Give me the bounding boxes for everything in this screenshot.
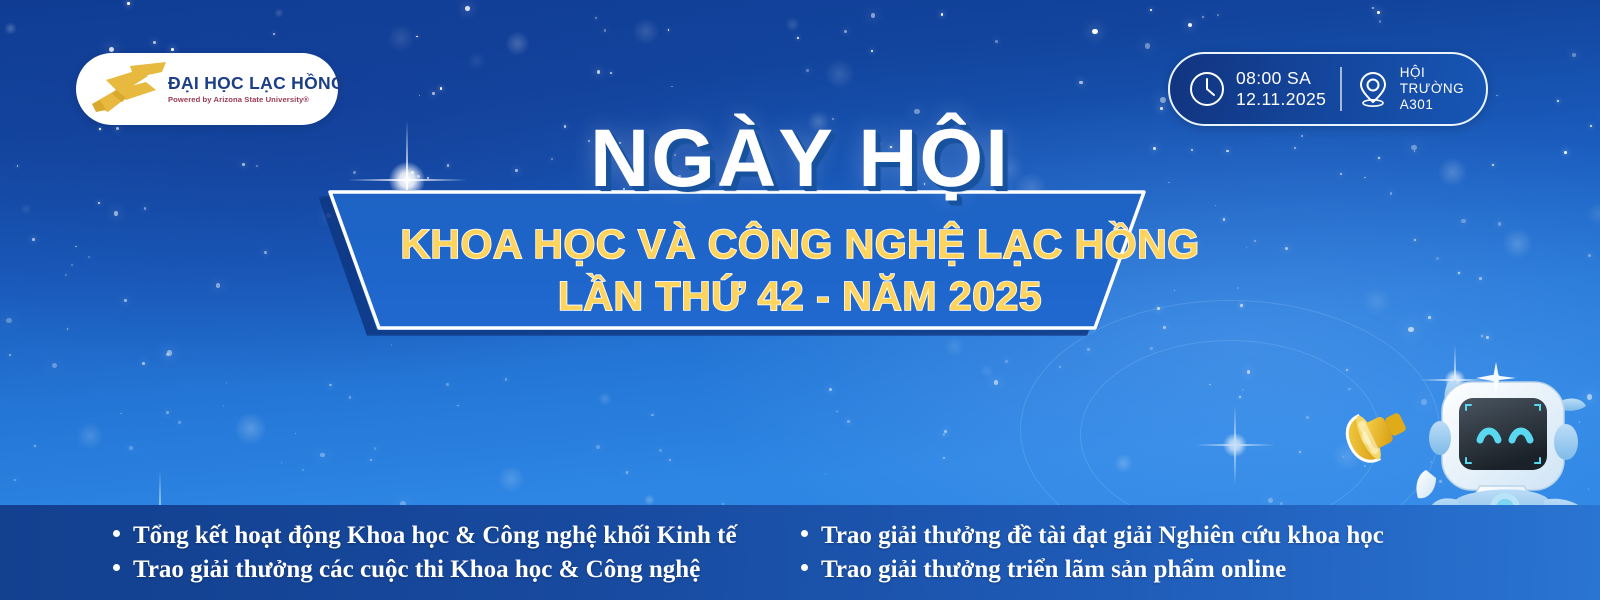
star-dot [302, 469, 303, 470]
bokeh-dot [274, 8, 283, 17]
star-dot [1557, 100, 1559, 102]
star-dot [349, 396, 352, 399]
datetime-segment: 08:00 SA 12.11.2025 [1188, 68, 1326, 111]
datetime-text: 08:00 SA 12.11.2025 [1236, 68, 1326, 111]
star-dot [1005, 360, 1008, 363]
star-dot [167, 350, 172, 355]
university-logo[interactable]: ĐẠI HỌC LẠC HỒNG Powered by Arizona Stat… [76, 53, 338, 125]
star-dot [668, 29, 670, 31]
star-dot [226, 382, 228, 384]
star-dot [171, 48, 174, 51]
star-dot [1242, 389, 1245, 392]
star-dot [120, 413, 122, 415]
star-dot [1379, 20, 1382, 23]
bokeh-dot [980, 364, 994, 378]
event-banner: ĐẠI HỌC LẠC HỒNG Powered by Arizona Stat… [0, 0, 1600, 600]
star-dot [446, 383, 449, 386]
star-dot [844, 30, 847, 33]
bokeh-dot [1114, 454, 1133, 473]
star-dot [273, 33, 275, 35]
star-dot [659, 449, 662, 452]
location-line-3: A301 [1400, 97, 1464, 113]
star-dot [847, 420, 850, 423]
agenda-item: Trao giải thưởng triển lãm sản phẩm onli… [801, 556, 1384, 584]
star-dot [391, 344, 393, 346]
bokeh-dot [824, 59, 855, 90]
star-dot [223, 405, 225, 407]
star-dot [329, 384, 332, 387]
star-dot [596, 445, 600, 449]
star-dot [1087, 348, 1090, 351]
star-dot [142, 362, 145, 365]
star-dot [109, 47, 114, 52]
logo-subtitle: Powered by Arizona State University® [168, 95, 345, 104]
agenda-item-label: Tổng kết hoạt động Khoa học & Công nghệ … [133, 522, 737, 550]
bokeh-dot [785, 17, 800, 32]
star-dot [1160, 107, 1163, 110]
star-dot [9, 354, 12, 357]
star-dot [295, 433, 297, 435]
logo-title: ĐẠI HỌC LẠC HỒNG [168, 74, 345, 92]
star-dot [465, 6, 470, 11]
bullet-dot-icon [113, 564, 120, 571]
agenda-item-label: Trao giải thưởng đề tài đạt giải Nghiên … [821, 522, 1384, 550]
star-dot [1217, 14, 1219, 16]
star-dot [871, 50, 873, 52]
star-dot [1150, 9, 1152, 11]
star-dot [1268, 498, 1273, 503]
star-dot [1079, 81, 1082, 84]
event-date: 12.11.2025 [1236, 89, 1326, 110]
agenda-item: Tổng kết hoạt động Khoa học & Công nghệ … [113, 522, 793, 550]
location-line-1: HỘI [1400, 65, 1464, 81]
star-dot [1572, 53, 1576, 57]
star-dot [829, 388, 832, 391]
bokeh-dot [598, 392, 612, 406]
star-dot [166, 411, 169, 414]
bokeh-dot [4, 22, 17, 35]
star-dot [416, 36, 418, 38]
agenda-item-label: Trao giải thưởng các cuộc thi Khoa học &… [133, 556, 700, 584]
star-dot [1299, 451, 1301, 453]
agenda-item: Trao giải thưởng các cuộc thi Khoa học &… [113, 556, 793, 584]
star-dot [651, 414, 654, 417]
lac-hong-bird-logo-icon [86, 60, 172, 118]
star-dot [1202, 16, 1204, 18]
star-dot [1160, 97, 1166, 103]
bullet-dot-icon [801, 530, 808, 537]
star-dot [440, 87, 442, 89]
star-dot [281, 462, 282, 463]
star-dot [610, 72, 612, 74]
star-dot [604, 29, 607, 32]
star-dot [34, 445, 36, 447]
star-dot [797, 37, 799, 39]
star-dot [14, 479, 16, 481]
star-dot [52, 363, 57, 368]
bokeh-dot [497, 465, 525, 493]
star-dot [836, 411, 838, 413]
star-dot [1209, 384, 1211, 386]
star-dot [127, 2, 129, 4]
star-dot [941, 13, 943, 15]
star-dot [597, 70, 601, 74]
bokeh-dot [505, 31, 531, 57]
subtitle-line-1: KHOA HỌC VÀ CÔNG NGHỆ LẠC HỒNG [0, 224, 1600, 265]
star-dot [432, 92, 435, 95]
star-dot [626, 471, 628, 473]
star-dot [1188, 23, 1192, 27]
star-dot [1377, 11, 1380, 14]
location-line-2: TRƯỜNG [1400, 81, 1464, 97]
star-dot [178, 421, 181, 424]
subtitle-line-2: LẦN THỨ 42 - NĂM 2025 [0, 276, 1600, 317]
star-dot [1247, 370, 1251, 374]
location-segment: HỘI TRƯỜNG A301 [1356, 65, 1464, 113]
star-dot [153, 41, 156, 44]
star-dot [129, 446, 132, 449]
star-dot [1059, 366, 1062, 369]
star-dot [419, 95, 421, 97]
bokeh-dot [387, 24, 415, 52]
bokeh-dot [467, 52, 485, 70]
event-time: 08:00 SA [1236, 68, 1326, 89]
event-info-badge[interactable]: 08:00 SA 12.11.2025 HỘI TRƯỜNG A301 [1168, 52, 1488, 126]
star-dot [994, 380, 998, 384]
bokeh-dot [632, 18, 659, 45]
star-dot [166, 353, 169, 356]
clock-icon [1188, 70, 1226, 108]
star-dot [995, 40, 998, 43]
agenda-left-column: Tổng kết hoạt động Khoa học & Công nghệ … [113, 522, 793, 584]
star-dot [370, 459, 373, 462]
bullet-dot-icon [113, 530, 120, 537]
location-pin-icon [1356, 69, 1390, 109]
bokeh-dot [234, 412, 267, 445]
star-dot [1092, 29, 1097, 34]
star-dot [1496, 95, 1498, 97]
star-dot [943, 457, 945, 459]
star-dot [871, 13, 876, 18]
star-dot [825, 473, 827, 475]
location-text: HỘI TRƯỜNG A301 [1400, 65, 1464, 113]
star-dot [806, 69, 808, 71]
bokeh-dot [76, 422, 104, 450]
bullet-dot-icon [801, 564, 808, 571]
star-dot [595, 17, 596, 18]
star-dot [1150, 347, 1153, 350]
star-dot [1239, 396, 1241, 398]
star-dot [669, 459, 671, 461]
star-dot [1372, 7, 1374, 9]
badge-divider [1340, 67, 1342, 111]
star-dot [944, 430, 947, 433]
agenda-item-label: Trao giải thưởng triển lãm sản phẩm onli… [821, 556, 1286, 584]
star-dot [943, 433, 946, 436]
star-dot [457, 405, 459, 407]
star-dot [320, 453, 325, 458]
star-dot [374, 447, 377, 450]
title-block: NGÀY HỘI KHOA HỌC VÀ CÔNG NGHỆ LẠC HỒNG … [0, 118, 1600, 343]
bottom-agenda-bar: Tổng kết hoạt động Khoa học & Công nghệ … [0, 505, 1600, 600]
agenda-right-column: Trao giải thưởng đề tài đạt giải Nghiên … [801, 522, 1384, 584]
star-dot [1306, 416, 1309, 419]
star-dot [1145, 43, 1150, 48]
agenda-item: Trao giải thưởng đề tài đạt giải Nghiên … [801, 522, 1384, 550]
bokeh-dot [644, 494, 655, 505]
star-dot [671, 86, 673, 88]
star-dot [505, 378, 507, 380]
main-title: NGÀY HỘI [0, 118, 1600, 200]
